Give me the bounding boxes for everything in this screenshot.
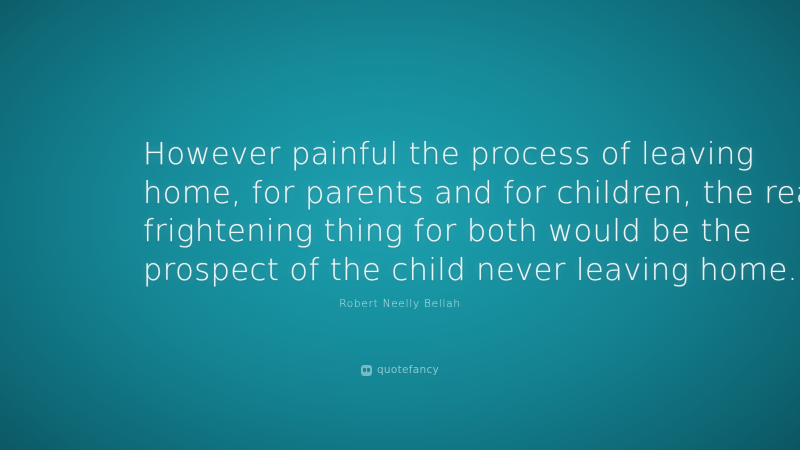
quote-author: Robert Neelly Bellah bbox=[0, 298, 800, 310]
quote-poster: However painful the process of leaving h… bbox=[0, 0, 800, 450]
quote-line: However painful the process of leaving bbox=[143, 136, 668, 175]
quote-line: prospect of the child never leaving home… bbox=[143, 252, 668, 291]
quote-line: frightening thing for both would be the bbox=[143, 213, 668, 252]
brand-watermark[interactable]: quotefancy bbox=[0, 364, 800, 376]
brand-name: quotefancy bbox=[377, 364, 439, 376]
quote-text-block: However painful the process of leaving h… bbox=[143, 136, 668, 290]
quote-mark-icon bbox=[361, 365, 372, 376]
quote-line: home, for parents and for children, the … bbox=[143, 175, 668, 214]
